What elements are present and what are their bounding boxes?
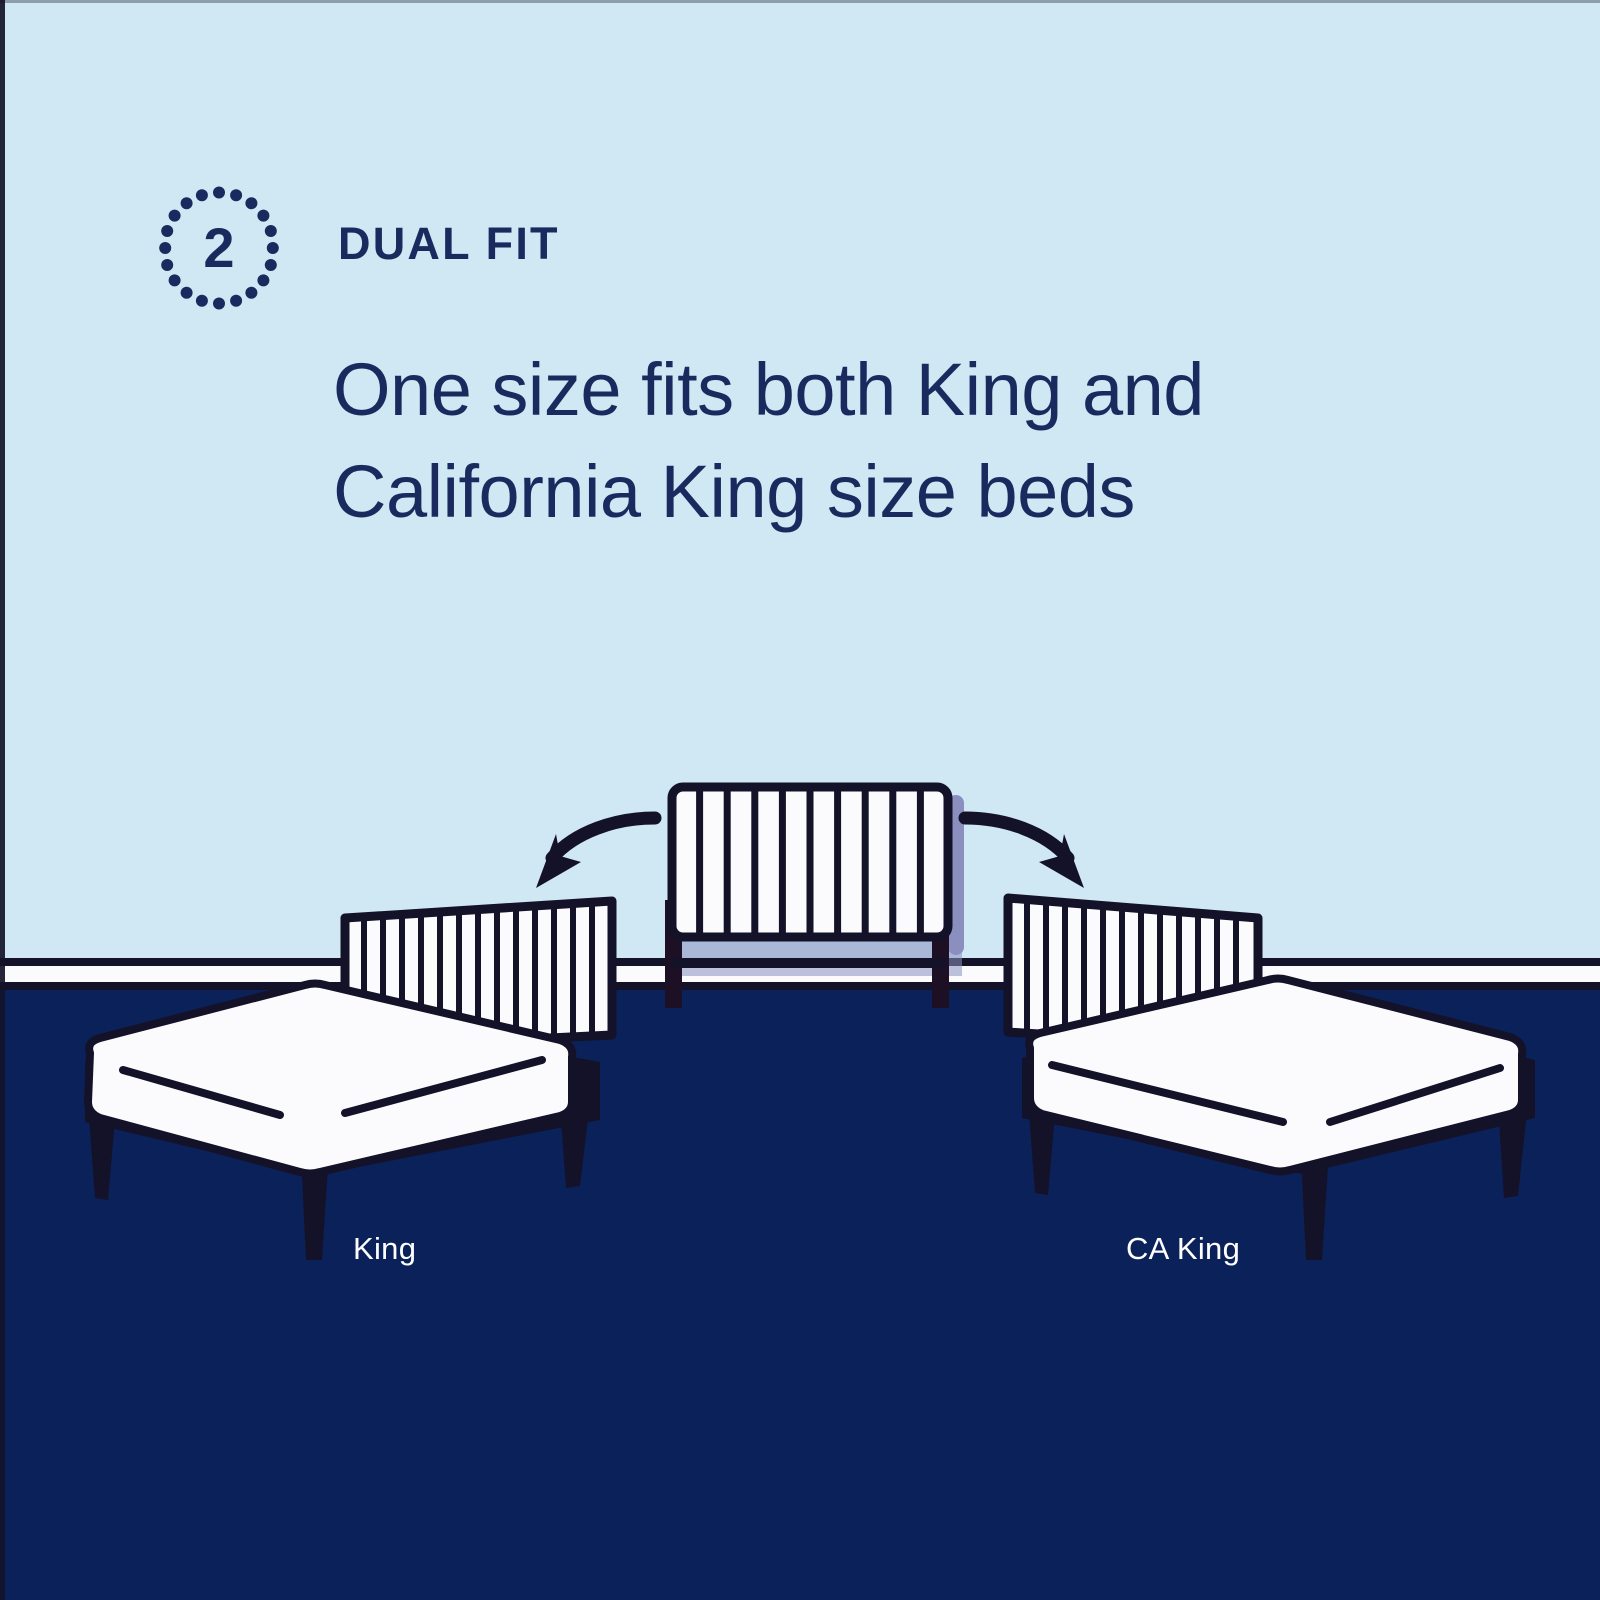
illustration-card: 2 DUAL FIT One size fits both King and C… <box>0 0 1600 1600</box>
center-headboard <box>665 787 964 1008</box>
bed-label-ca-king: CA King <box>1126 1233 1240 1264</box>
section-eyebrow: DUAL FIT <box>338 219 560 269</box>
bed-label-king: King <box>353 1233 416 1264</box>
step-number: 2 <box>157 186 281 310</box>
headline-line-2: California King size beds <box>333 441 1453 543</box>
page-title: One size fits both King and California K… <box>333 339 1453 543</box>
headline-line-1: One size fits both King and <box>333 339 1453 441</box>
step-badge: 2 <box>157 186 281 310</box>
